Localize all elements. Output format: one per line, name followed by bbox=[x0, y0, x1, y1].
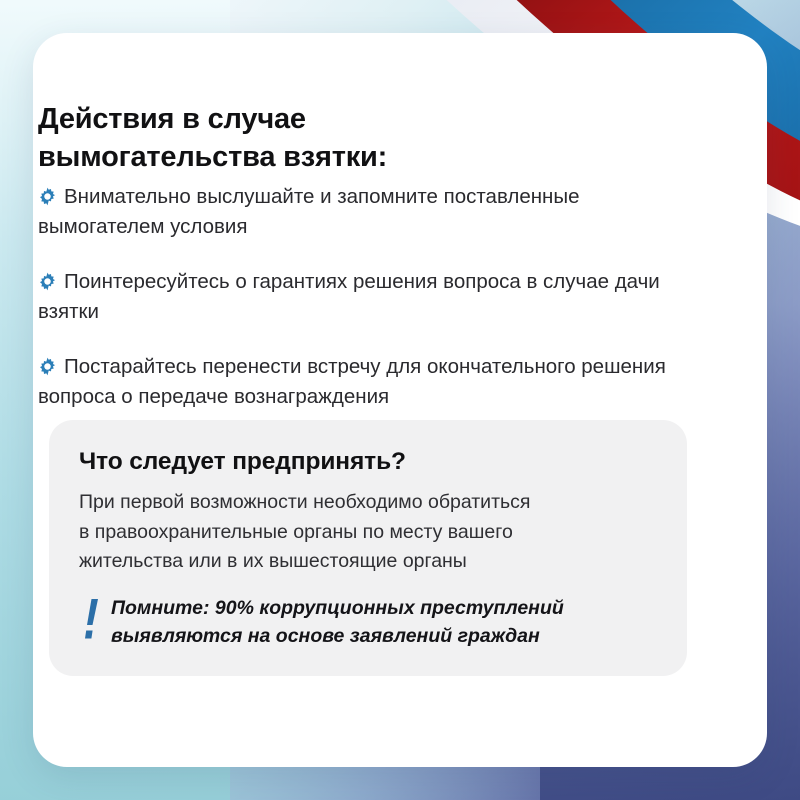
list-item: Поинтересуйтесь о гарантиях решения вопр… bbox=[38, 267, 698, 327]
list-item: Постарайтесь перенести встречу для оконч… bbox=[38, 352, 698, 412]
page-title: Действия в случае вымогательства взятки: bbox=[38, 101, 638, 177]
list-item-label: Внимательно выслушайте и запомните поста… bbox=[38, 185, 580, 238]
callout-body: При первой возможности необходимо обрати… bbox=[79, 488, 657, 577]
callout-body-line-1: При первой возможности необходимо обрати… bbox=[79, 488, 657, 518]
gear-icon bbox=[38, 272, 57, 291]
action-list: Внимательно выслушайте и запомните поста… bbox=[38, 182, 698, 412]
list-item: Внимательно выслушайте и запомните поста… bbox=[38, 182, 698, 242]
remember-note-line-2: выявляются на основе заявлений граждан bbox=[111, 623, 657, 651]
list-item-label: Постарайтесь перенести встречу для оконч… bbox=[38, 355, 666, 408]
callout-box: Что следует предпринять? При первой возм… bbox=[49, 420, 687, 676]
exclamation-icon bbox=[81, 597, 101, 641]
page-title-line-1: Действия в случае bbox=[38, 101, 638, 139]
gear-icon bbox=[38, 187, 57, 206]
callout-body-line-3: жительства или в их вышестоящие органы bbox=[79, 547, 657, 577]
remember-note-line-1: Помните: 90% коррупционных преступлений bbox=[111, 595, 657, 623]
list-item-label: Поинтересуйтесь о гарантиях решения вопр… bbox=[38, 270, 660, 323]
page-title-line-2: вымогательства взятки: bbox=[38, 139, 638, 177]
remember-note-text: Помните: 90% коррупционных преступлений … bbox=[111, 595, 657, 650]
callout-heading: Что следует предпринять? bbox=[79, 448, 657, 476]
gear-icon bbox=[38, 357, 57, 376]
poster-canvas: Действия в случае вымогательства взятки:… bbox=[0, 0, 800, 800]
callout-body-line-2: в правоохранительные органы по месту ваш… bbox=[79, 518, 657, 548]
remember-note: Помните: 90% коррупционных преступлений … bbox=[79, 595, 657, 650]
